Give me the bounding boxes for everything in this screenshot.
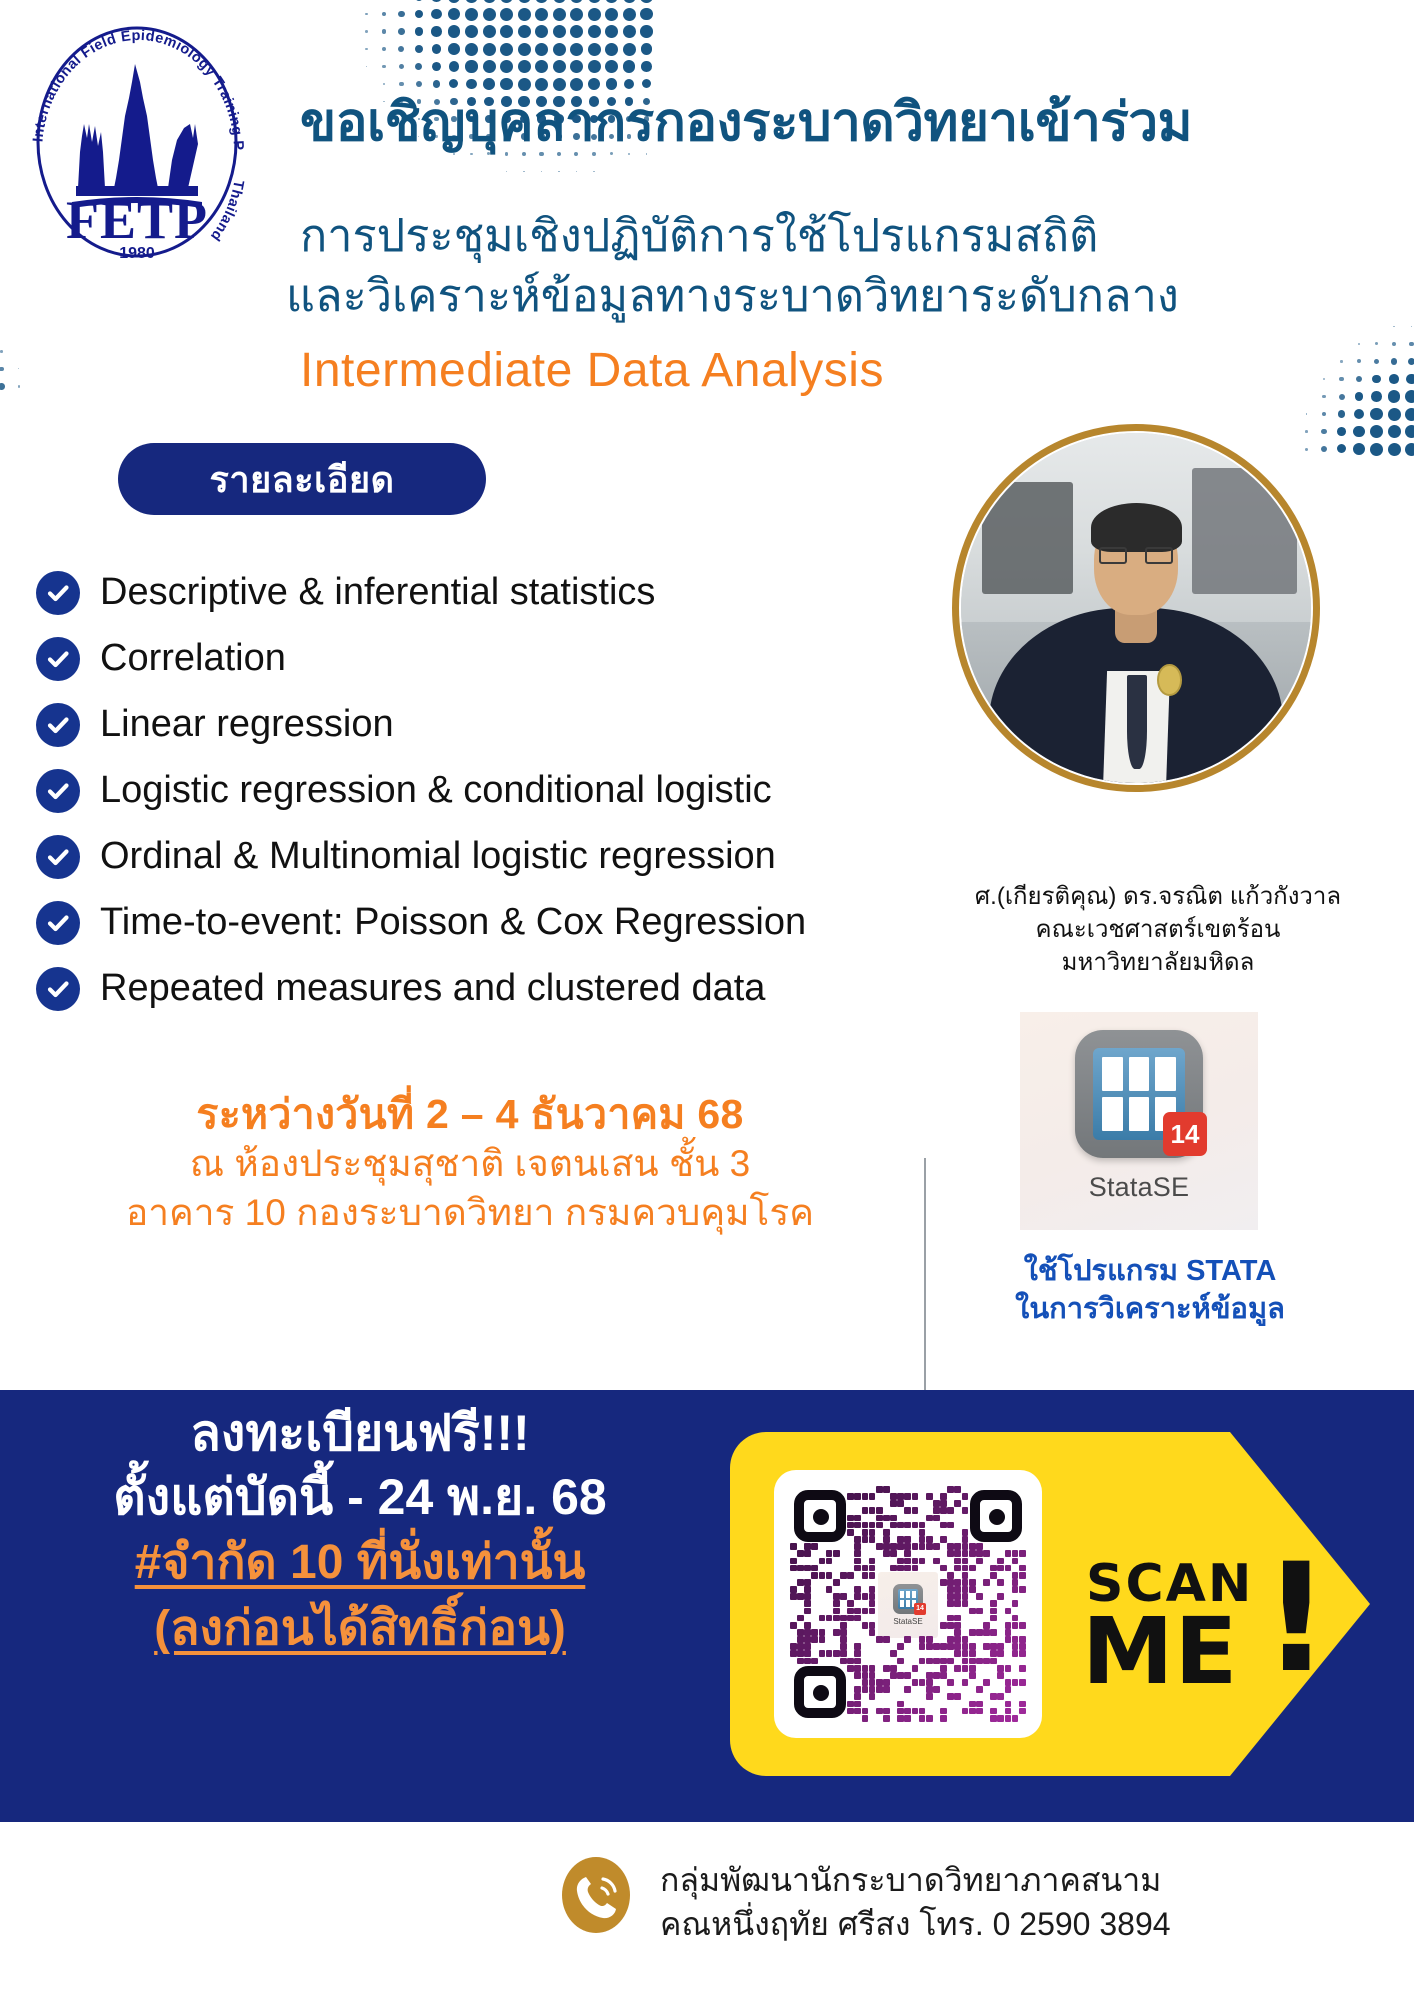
- header-title-line1: ขอเชิญบุคลากรกองระบาดวิทยาเข้าร่วม: [300, 95, 1390, 151]
- details-pill: รายละเอียด: [118, 443, 486, 515]
- registration-line4: (ลงก่อนได้สิทธิ์ก่อน): [10, 1596, 710, 1662]
- halftone-dots-left: [0, 240, 110, 400]
- contact-person-phone: คณหนึ่งฤทัย ศรีสง โทร. 0 2590 3894: [660, 1902, 1360, 1946]
- qr-finder-topright: [970, 1490, 1022, 1542]
- speaker-caption: ศ.(เกียรติคุณ) ดร.จรณิต แก้วกังวาล คณะเว…: [948, 880, 1368, 979]
- schedule-date: ระหว่างวันที่ 2 – 4 ธันวาคม 68: [120, 1088, 820, 1140]
- phone-icon: [556, 1855, 636, 1935]
- schedule-venue-line1: ณ ห้องประชุมสุชาติ เจตนเสน ชั้น 3: [120, 1140, 820, 1189]
- speaker-photo: [952, 424, 1320, 792]
- checklist-item: Linear regression: [36, 692, 1036, 758]
- contact-org: กลุ่มพัฒนานักระบาดวิทยาภาคสนาม: [660, 1858, 1360, 1902]
- stata-caption-line1: ใช้โปรแกรม STATA: [1000, 1253, 1300, 1291]
- registration-line2: ตั้งแต่บัดนี้ - 24 พ.ย. 68: [10, 1465, 710, 1530]
- checklist-item-label: Repeated measures and clustered data: [100, 968, 765, 1010]
- check-circle-icon: [36, 571, 80, 615]
- qr-code[interactable]: 14 StataSE: [774, 1470, 1042, 1738]
- checklist-item: Descriptive & inferential statistics: [36, 560, 1036, 626]
- checklist-item: Repeated measures and clustered data: [36, 956, 1036, 1022]
- check-circle-icon: [36, 901, 80, 945]
- check-circle-icon: [36, 835, 80, 879]
- check-circle-icon: [36, 637, 80, 681]
- svg-text:FETP: FETP: [66, 190, 208, 250]
- speaker-name: ศ.(เกียรติคุณ) ดร.จรณิต แก้วกังวาล: [948, 880, 1368, 913]
- check-circle-icon: [36, 703, 80, 747]
- checklist-item: Time-to-event: Poisson & Cox Regression: [36, 890, 1036, 956]
- details-checklist: Descriptive & inferential statisticsCorr…: [36, 560, 1036, 1022]
- section-divider: [924, 1158, 926, 1391]
- checklist-item: Logistic regression & conditional logist…: [36, 758, 1036, 824]
- qr-finder-topleft: [794, 1490, 846, 1542]
- checklist-item-label: Logistic regression & conditional logist…: [100, 770, 772, 812]
- stata-app-icon: 14: [1075, 1030, 1203, 1158]
- stata-app-name: StataSE: [1089, 1172, 1189, 1203]
- qr-center-stata-icon: 14: [893, 1584, 923, 1614]
- header-title-line3: และวิเคราะห์ข้อมูลทางระบาดวิทยาระดับกลาง: [286, 266, 1361, 326]
- check-circle-icon: [36, 769, 80, 813]
- speaker-university: มหาวิทยาลัยมหิดล: [948, 946, 1368, 979]
- qr-finder-bottomleft: [794, 1666, 846, 1718]
- me-word: ME: [1082, 1598, 1238, 1705]
- schedule-block: ระหว่างวันที่ 2 – 4 ธันวาคม 68 ณ ห้องประ…: [120, 1088, 820, 1238]
- fetp-logo: International Field Epidemiology Trainin…: [22, 20, 252, 260]
- stata-app-card: 14 StataSE: [1020, 1012, 1258, 1230]
- checklist-item-label: Time-to-event: Poisson & Cox Regression: [100, 902, 806, 944]
- qr-center-label: StataSE: [893, 1617, 922, 1626]
- registration-text: ลงทะเบียนฟรี!!! ตั้งแต่บัดนี้ - 24 พ.ย. …: [10, 1402, 710, 1662]
- checklist-item-label: Linear regression: [100, 704, 394, 746]
- qr-code-matrix: 14 StataSE: [790, 1486, 1026, 1722]
- stata-caption: ใช้โปรแกรม STATA ในการวิเคราะห์ข้อมูล: [1000, 1253, 1300, 1328]
- registration-line1: ลงทะเบียนฟรี!!!: [10, 1402, 710, 1465]
- stata-caption-line2: ในการวิเคราะห์ข้อมูล: [1000, 1291, 1300, 1329]
- qr-center-badge: 14: [914, 1603, 926, 1615]
- stata-version-badge: 14: [1163, 1112, 1207, 1156]
- qr-center-logo: 14 StataSE: [878, 1572, 938, 1638]
- speaker-faculty: คณะเวชศาสตร์เขตร้อน: [948, 913, 1368, 946]
- checklist-item-label: Descriptive & inferential statistics: [100, 572, 655, 614]
- checklist-item: Correlation: [36, 626, 1036, 692]
- poster-root: International Field Epidemiology Trainin…: [0, 0, 1414, 2000]
- header-title-line2: การประชุมเชิงปฏิบัติการใช้โปรแกรมสถิติ: [300, 206, 1360, 266]
- contact-info: กลุ่มพัฒนานักระบาดวิทยาภาคสนาม คณหนึ่งฤท…: [660, 1858, 1360, 1946]
- checklist-item: Ordinal & Multinomial logistic regressio…: [36, 824, 1036, 890]
- registration-line3: #จำกัด 10 ที่นั่งเท่านั้น: [10, 1530, 710, 1596]
- svg-text:1980: 1980: [119, 245, 155, 260]
- scan-me-tag[interactable]: 14 StataSE SCAN ME !: [730, 1432, 1370, 1776]
- check-circle-icon: [36, 967, 80, 1011]
- details-pill-label: รายละเอียด: [210, 451, 395, 508]
- exclamation-word: !: [1262, 1544, 1330, 1694]
- schedule-venue-line2: อาคาร 10 กองระบาดวิทยา กรมควบคุมโรค: [120, 1189, 820, 1238]
- checklist-item-label: Ordinal & Multinomial logistic regressio…: [100, 836, 776, 878]
- speaker-photo-ring: [952, 424, 1320, 792]
- checklist-item-label: Correlation: [100, 638, 286, 680]
- header-english-title: Intermediate Data Analysis: [300, 343, 1360, 398]
